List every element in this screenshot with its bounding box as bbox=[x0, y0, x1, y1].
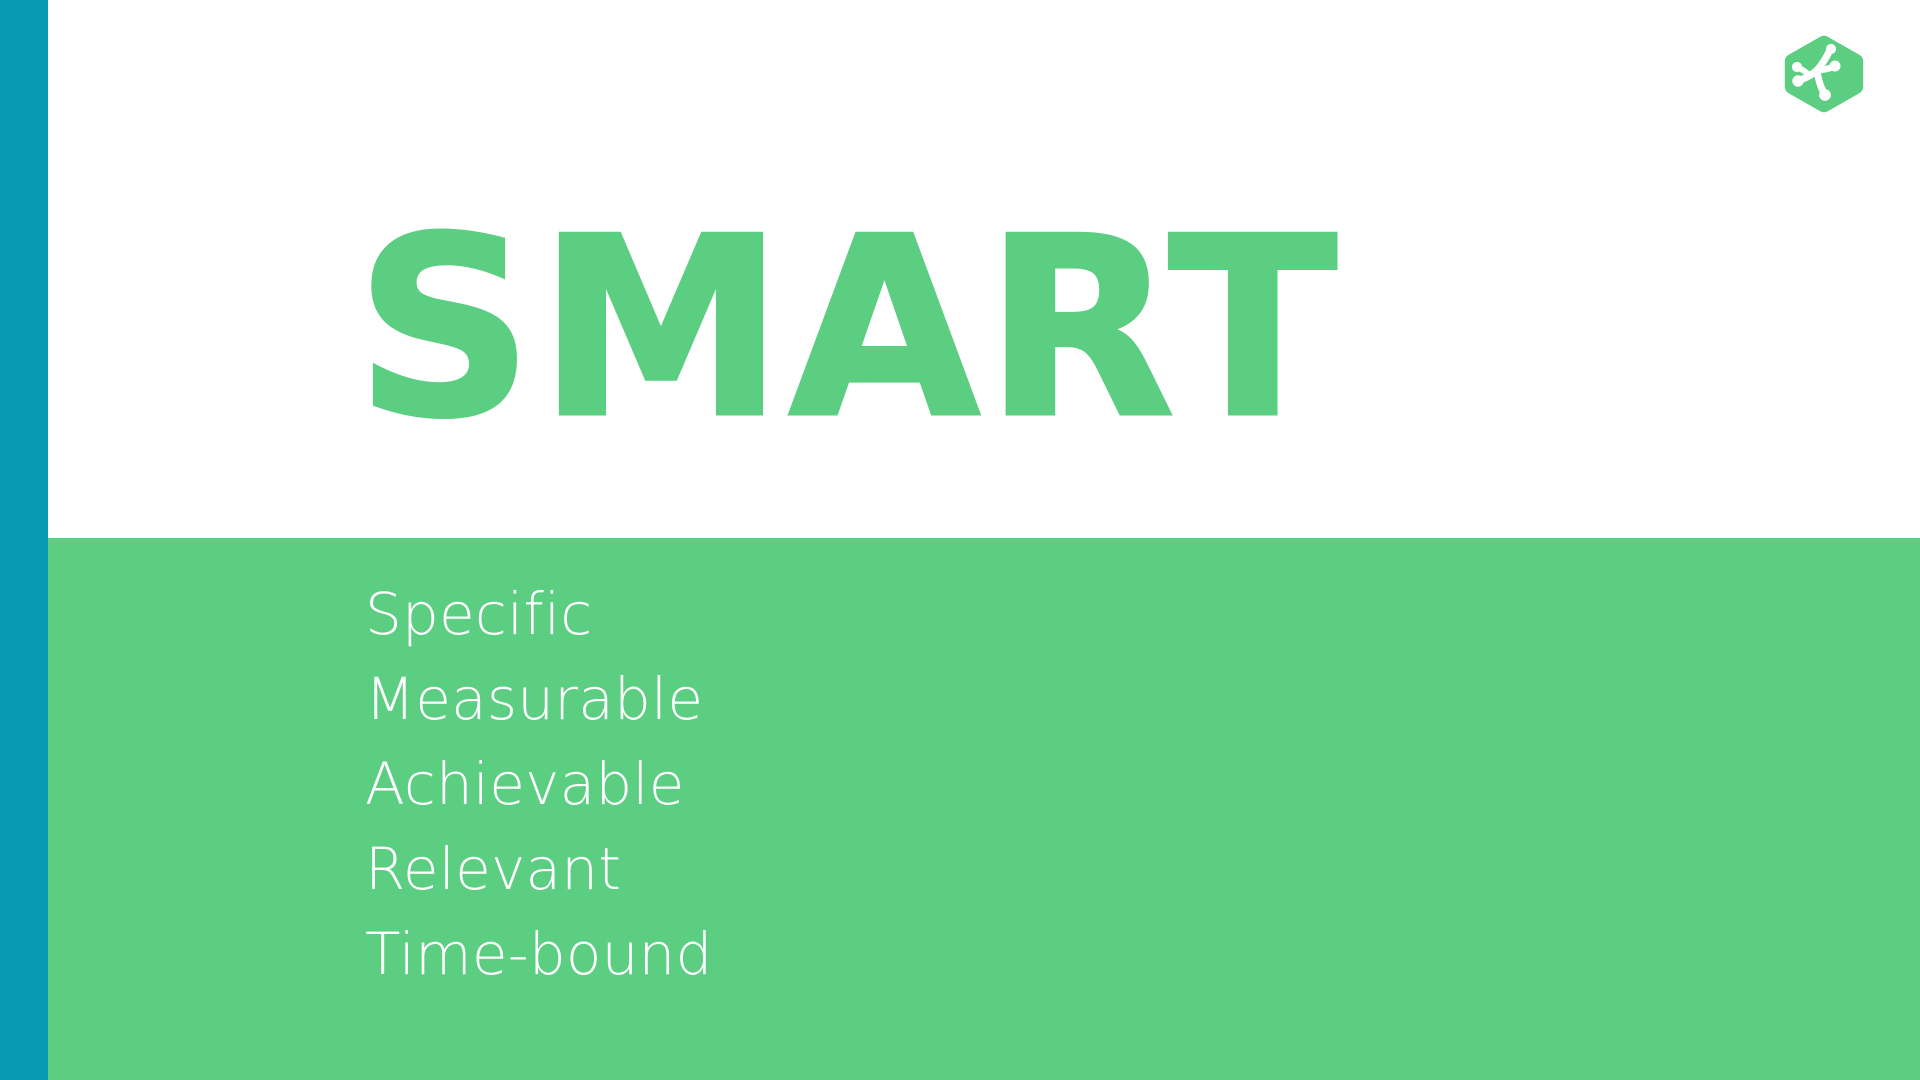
left-accent-bar bbox=[0, 0, 48, 1080]
list-item: Achievable bbox=[365, 742, 713, 827]
list-item: Relevant bbox=[365, 827, 713, 912]
slide-canvas: SMART Specific Measurable Achievable Rel… bbox=[0, 0, 1920, 1080]
list-item: Measurable bbox=[365, 657, 713, 742]
list-item: Time-bound bbox=[365, 912, 713, 997]
list-item: Specific bbox=[365, 572, 713, 657]
page-title: SMART bbox=[355, 205, 1341, 453]
acronym-list: Specific Measurable Achievable Relevant … bbox=[365, 572, 713, 997]
hexagon-tree-logo-icon bbox=[1776, 34, 1872, 114]
list-panel bbox=[48, 538, 1920, 1080]
